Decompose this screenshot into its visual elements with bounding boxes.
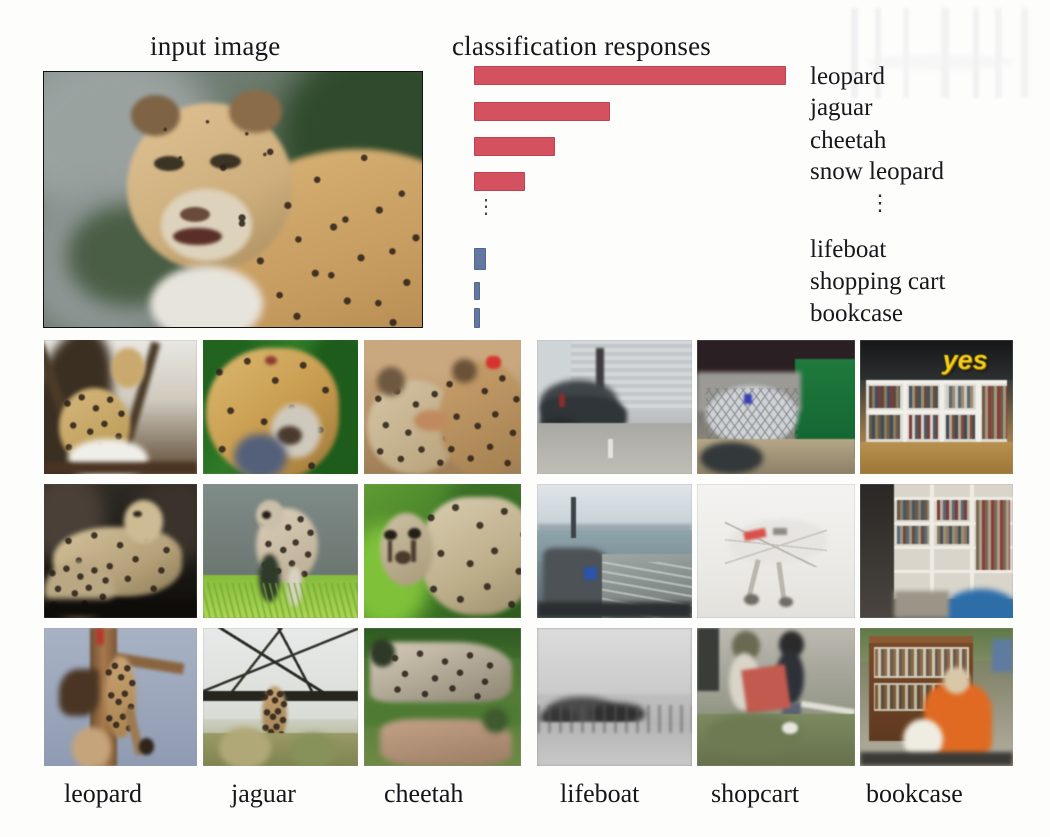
chart-label-shopping-cart: shopping cart: [810, 268, 945, 296]
thumbnail-shopcart-1: [697, 340, 855, 474]
column-label-shopcart: shopcart: [711, 779, 799, 809]
yes-overlay-text: yes: [943, 345, 988, 376]
page-title-input-image: input image: [150, 31, 280, 62]
thumbnail-shopcart-3: [697, 628, 855, 766]
input-image-photo: [44, 72, 422, 327]
bar-cheetah: [474, 137, 555, 156]
column-label-cheetah: cheetah: [384, 779, 463, 809]
figure-canvas: input image classification responses: [0, 0, 1050, 837]
chart-label-snow-leopard: snow leopard: [810, 158, 944, 186]
thumbnail-bookcase-3: [860, 628, 1013, 766]
chart-label-cheetah: cheetah: [810, 127, 886, 155]
thumbnail-jaguar-1: [203, 340, 358, 474]
chart-label-jaguar: jaguar: [810, 94, 872, 122]
thumbnail-cheetah-1: [364, 340, 521, 474]
thumbnail-cheetah-3: [364, 628, 521, 766]
bar-snow-leopard: [474, 172, 525, 191]
thumbnail-bookcase-2: [860, 484, 1013, 618]
thumbnail-jaguar-2: [203, 484, 358, 618]
thumbnail-jaguar-3: [203, 628, 358, 766]
chart-ellipsis: ⋮: [476, 202, 490, 212]
chart-label-lifeboat: lifeboat: [810, 236, 886, 264]
chart-label-leopard: leopard: [810, 63, 885, 91]
chart-labels-ellipsis: ⋮: [869, 196, 891, 210]
column-label-leopard: leopard: [64, 779, 142, 809]
bar-lifeboat: [474, 248, 486, 270]
thumbnail-leopard-2: [44, 484, 197, 618]
bar-jaguar: [474, 102, 610, 121]
bar-leopard: [474, 66, 786, 85]
bar-shopping-cart: [474, 282, 480, 300]
thumbnail-lifeboat-1: [537, 340, 692, 474]
bar-bookcase: [474, 308, 480, 328]
column-label-lifeboat: lifeboat: [560, 779, 639, 809]
chart-label-bookcase: bookcase: [810, 300, 903, 328]
watermark-swoosh: [865, 54, 1015, 70]
thumbnail-lifeboat-2: [537, 484, 692, 618]
thumbnail-leopard-1: [44, 340, 197, 474]
column-label-bookcase: bookcase: [866, 779, 963, 809]
red-annotation-mark: [486, 356, 500, 369]
thumbnail-shopcart-2: [697, 484, 855, 618]
thumbnail-bookcase-1: yes: [860, 340, 1013, 474]
page-title-classification-responses: classification responses: [452, 31, 711, 62]
thumbnail-cheetah-2: [364, 484, 521, 618]
thumbnail-leopard-3: [44, 628, 197, 766]
thumbnail-lifeboat-3: [537, 628, 692, 766]
classification-bar-chart: ⋮: [474, 60, 814, 322]
column-label-jaguar: jaguar: [231, 779, 296, 809]
